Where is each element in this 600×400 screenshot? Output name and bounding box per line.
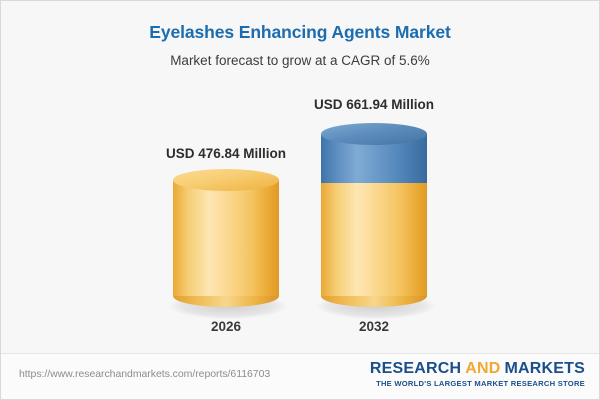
footer: https://www.researchandmarkets.com/repor…: [1, 354, 599, 399]
bar-2026-top-cap: [173, 169, 279, 191]
logo-word-research: RESEARCH: [370, 360, 461, 377]
logo-tagline: THE WORLD'S LARGEST MARKET RESEARCH STOR…: [370, 379, 585, 388]
chart-plot-area: USD 476.84 Million 2026 USD 661.94 Milli…: [1, 1, 600, 400]
logo-word-markets: MARKETS: [504, 360, 585, 377]
bar-2026-segment-base: [173, 180, 279, 296]
bar-2026[interactable]: [173, 169, 279, 307]
category-label-2032: 2032: [264, 319, 484, 334]
value-label-2032: USD 661.94 Million: [264, 97, 484, 112]
report-url[interactable]: https://www.researchandmarkets.com/repor…: [19, 368, 270, 380]
bar-2032-segment-base: [321, 183, 427, 296]
logo-wordmark: RESEARCHANDMARKETS: [370, 360, 585, 378]
bar-2032[interactable]: [321, 123, 427, 307]
bar-2032-top-cap: [321, 123, 427, 145]
value-label-2026: USD 476.84 Million: [116, 146, 336, 161]
market-forecast-infographic: Eyelashes Enhancing Agents Market Market…: [0, 0, 600, 400]
research-and-markets-logo[interactable]: RESEARCHANDMARKETS THE WORLD'S LARGEST M…: [370, 360, 585, 388]
logo-word-and: AND: [465, 360, 500, 377]
